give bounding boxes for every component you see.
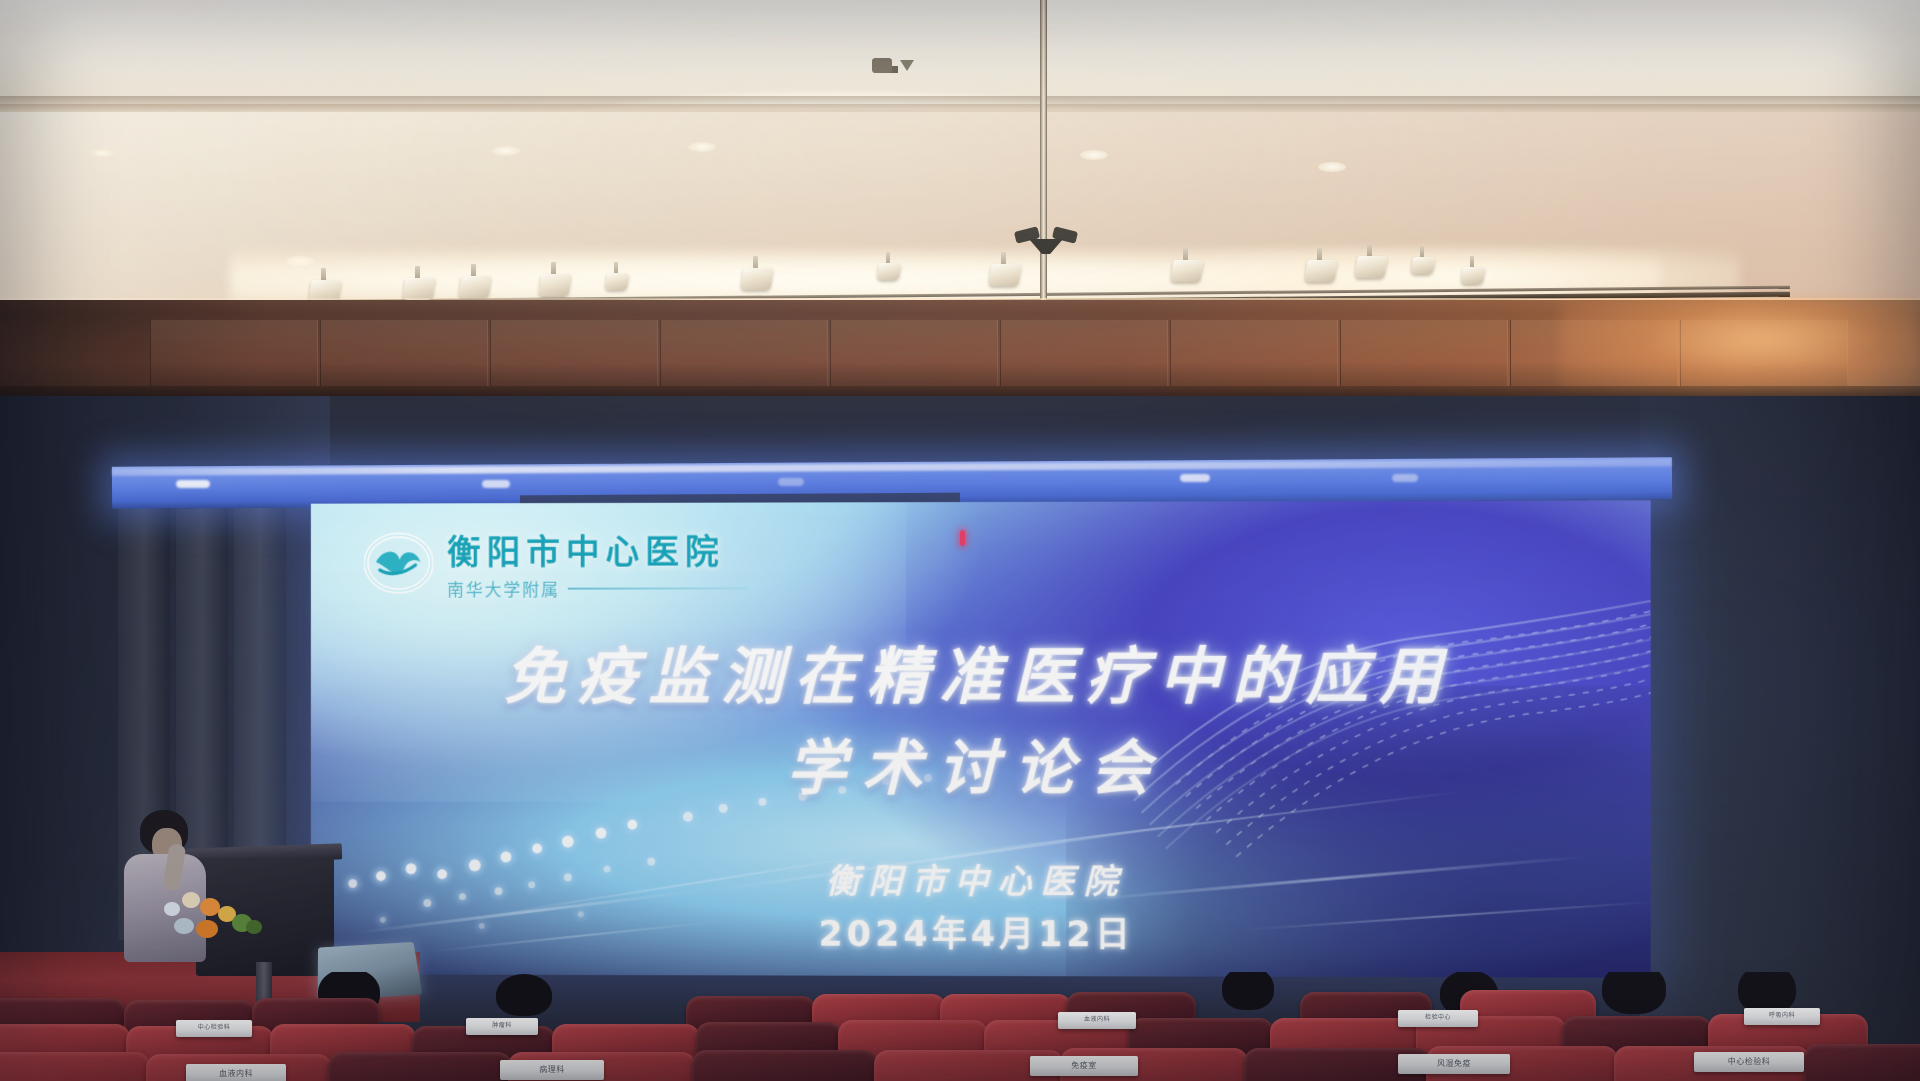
valance-panel: [320, 320, 488, 386]
valance-panel: [490, 320, 658, 386]
ceiling-camera-icon: [872, 58, 892, 73]
seat-namecard: 风湿免疫: [1398, 1054, 1510, 1074]
spotlight-head-icon: [605, 273, 629, 290]
hanging-pole: [1040, 0, 1047, 312]
flower-bloom: [200, 898, 220, 916]
seat-namecard: 呼吸内科: [1744, 1008, 1820, 1025]
bracket-cone-icon: [1029, 239, 1063, 254]
valance-panel: [1000, 320, 1168, 386]
spotlight-head-icon: [1354, 256, 1387, 278]
namecard-text: 肿瘤科: [466, 1018, 538, 1035]
seat-namecard: 中心检验科: [176, 1020, 252, 1037]
seat-namecard: 检验中心: [1398, 1010, 1478, 1027]
spotlight-head-icon: [1411, 257, 1435, 274]
namecard-text: 呼吸内科: [1744, 1008, 1820, 1025]
band-light-dot: [778, 478, 804, 486]
audience-head-silhouette: [496, 974, 552, 1016]
laser-pointer-dot-icon: [960, 530, 965, 546]
seat-namecard: 免疫室: [1030, 1056, 1138, 1076]
namecard-text: 检验中心: [1398, 1010, 1478, 1027]
band-light-dot: [1392, 474, 1418, 482]
seat-namecard: 肿瘤科: [466, 1018, 538, 1035]
valance-warm-light-pool: [1560, 300, 1920, 400]
downlight-icon: [1318, 162, 1346, 172]
floral-arrangement: [160, 886, 270, 942]
valance-panel: [1170, 320, 1338, 386]
valance-panel: [150, 320, 318, 386]
band-light-dot: [176, 480, 210, 488]
spotlight-fixture: [990, 252, 1020, 286]
ceiling-upper-slab: [0, 0, 1920, 105]
spotlight-head-icon: [1461, 267, 1485, 284]
spotlight-fixture: [1412, 246, 1434, 274]
spotlight-fixture: [540, 262, 570, 296]
pole-bracket: [1015, 226, 1077, 256]
namecard-text: 血液内科: [1058, 1012, 1136, 1029]
spotlight-head-icon: [402, 278, 435, 300]
screen-vignette: [311, 500, 1651, 977]
conference-hall-photo: 衡阳市中心医院 南华大学附属 免疫监测在精准医疗中的应用 学术讨论会 衡阳市中心…: [0, 0, 1920, 1081]
spotlight-fixture: [606, 262, 628, 290]
downlight-icon: [1080, 150, 1108, 160]
flower-leaf: [246, 920, 262, 934]
downlight-icon: [88, 148, 116, 158]
spotlight-fixture: [742, 256, 772, 290]
spotlight-fixture: [310, 268, 340, 302]
led-screen-content: 衡阳市中心医院 南华大学附属 免疫监测在精准医疗中的应用 学术讨论会 衡阳市中心…: [311, 500, 1651, 977]
audience-seat[interactable]: [328, 1052, 512, 1081]
audience-seat[interactable]: [0, 1052, 150, 1081]
namecard-text: 风湿免疫: [1398, 1054, 1510, 1074]
audience-seat[interactable]: [692, 1050, 878, 1081]
seat-namecard: 病理科: [500, 1060, 604, 1080]
spotlight-head-icon: [877, 263, 901, 280]
spotlight-fixture: [460, 264, 490, 298]
soffit-lip: [0, 104, 1920, 112]
led-presentation-screen[interactable]: 衡阳市中心医院 南华大学附属 免疫监测在精准医疗中的应用 学术讨论会 衡阳市中心…: [311, 500, 1651, 977]
spotlight-head-icon: [538, 274, 571, 296]
band-light-dot: [482, 480, 510, 488]
valance-panel: [1340, 320, 1508, 386]
spotlight-head-icon: [1170, 260, 1203, 282]
downlight-icon: [492, 146, 520, 156]
audience-head-silhouette: [1222, 972, 1274, 1010]
valance-panel: [830, 320, 998, 386]
audience-seating: 中心检验科 肿瘤科 血液内科 检验中心 呼吸内科 病理科 免疫室 风湿免疫 中心…: [0, 972, 1920, 1081]
flower-bloom: [196, 920, 218, 938]
downlight-icon: [688, 142, 716, 152]
flower-bloom: [174, 918, 194, 934]
spotlight-head-icon: [988, 264, 1021, 286]
spotlight-fixture: [1172, 248, 1202, 282]
namecard-text: 病理科: [500, 1060, 604, 1080]
seat-namecard: 血液内科: [186, 1064, 286, 1081]
spotlight-head-icon: [1304, 260, 1337, 282]
namecard-text: 血液内科: [186, 1064, 286, 1081]
valance-panel: [660, 320, 828, 386]
band-light-dot: [1180, 474, 1210, 482]
audience-seat[interactable]: [1804, 1044, 1920, 1081]
spotlight-fixture: [1462, 256, 1484, 284]
spotlight-head-icon: [740, 268, 773, 290]
namecard-text: 中心检验科: [176, 1020, 252, 1037]
seat-namecard: 中心检验科: [1694, 1052, 1804, 1072]
namecard-text: 中心检验科: [1694, 1052, 1804, 1072]
spotlight-fixture: [878, 252, 900, 280]
spotlight-fixture: [404, 266, 434, 300]
namecard-text: 免疫室: [1030, 1056, 1138, 1076]
seat-namecard: 血液内科: [1058, 1012, 1136, 1029]
spotlight-head-icon: [458, 276, 491, 298]
spotlight-fixture: [1356, 244, 1386, 278]
flower-bloom: [182, 892, 200, 908]
audience-head-silhouette: [1602, 972, 1666, 1014]
flower-bloom: [164, 902, 180, 916]
spotlight-fixture: [1306, 248, 1336, 282]
